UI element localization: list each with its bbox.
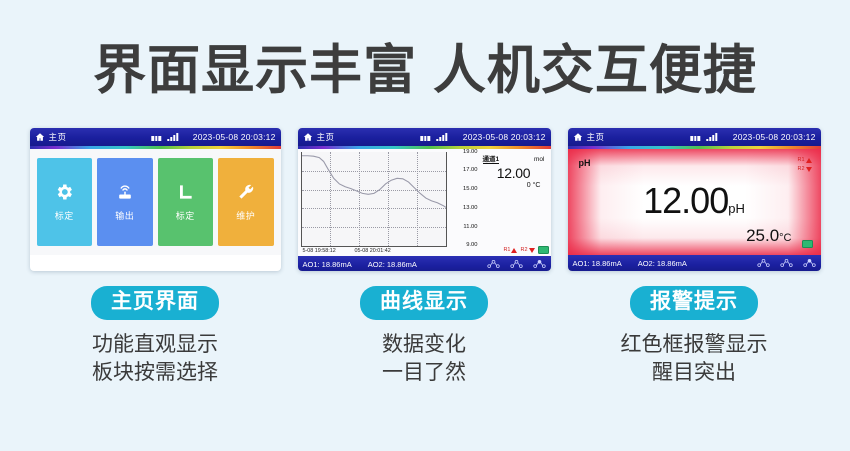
- device-bottombar: AO1: 18.86mA AO2: 18.86mA: [298, 256, 551, 271]
- device-bottombar: AO1: 18.86mA AO2: 18.86mA: [568, 255, 821, 271]
- device-titlebar: 主页 2023-05-08 20:03:12: [298, 128, 551, 146]
- relay-2-indicator: R2: [520, 247, 534, 253]
- node-link-icon-2[interactable]: [780, 258, 793, 268]
- triangle-up-icon: [806, 158, 812, 163]
- triangle-up-icon: [511, 248, 517, 253]
- tile-label: 标定: [55, 209, 74, 222]
- chart-yaxis: 19.00 17.00 15.00 13.00 11.00 9.00: [450, 149, 480, 256]
- node-link-icon-1[interactable]: [757, 258, 770, 268]
- device-mockup-home: 主页 2023-05-08 20:03:12 标定: [30, 128, 281, 271]
- gear-icon: [54, 182, 74, 202]
- cards-row: 主页 2023-05-08 20:03:12 标定: [0, 128, 850, 387]
- caption-alarm-screen: 红色框报警显示 醒目突出: [621, 331, 768, 386]
- device-titlebar: 主页 2023-05-08 20:03:12: [568, 128, 821, 146]
- tile-label: 维护: [236, 209, 255, 222]
- ph-reading: 12.00pH: [573, 180, 816, 222]
- relay-1-label: R1: [797, 157, 804, 163]
- signal-icon: [436, 133, 447, 141]
- home-tile-grid: 标定 输出: [30, 149, 281, 255]
- pill-alarm-screen: 报警提示: [630, 286, 758, 320]
- caption-line-2: 醒目突出: [621, 359, 768, 387]
- alarm-view: pH R1 R2 12.00pH: [568, 149, 821, 255]
- status-icons: [690, 133, 717, 141]
- node-link-icon-3[interactable]: [803, 258, 816, 268]
- titlebar-label: 主页: [587, 131, 605, 143]
- ytick-2: 15.00: [463, 186, 478, 192]
- device-mockup-curve: 主页 2023-05-08 20:03:12: [298, 128, 551, 271]
- temp-unit: °C: [779, 232, 791, 244]
- titlebar-datetime: 2023-05-08 20:03:12: [463, 132, 546, 142]
- temp-value: 25.0: [746, 226, 779, 245]
- relay-indicators: R1 R2: [797, 157, 811, 172]
- channel-name: 通道1: [483, 153, 500, 164]
- ruler-icon: [175, 182, 195, 202]
- ao1-value: AO1: 18.86mA: [303, 260, 352, 269]
- channel-temperature: 0 °C: [483, 182, 545, 189]
- ao1-value: AO1: 18.86mA: [573, 259, 622, 268]
- ao2-value: AO2: 18.86mA: [368, 260, 417, 269]
- caption-home-screen: 功能直观显示 板块按需选择: [92, 331, 218, 386]
- titlebar-datetime: 2023-05-08 20:03:12: [733, 132, 816, 142]
- ytick-3: 13.00: [463, 205, 478, 211]
- tile-calibration-1[interactable]: 标定: [37, 158, 93, 246]
- xtick-1: 05-08 20:01:42: [355, 248, 391, 254]
- bottom-nav-icons: [757, 258, 816, 268]
- caption-line-1: 数据变化: [382, 331, 466, 359]
- temperature-reading: 25.0°C: [746, 226, 791, 246]
- relay-1-label: R1: [503, 247, 510, 253]
- caption-line-1: 功能直观显示: [92, 331, 218, 359]
- measurement-label: pH: [579, 158, 591, 168]
- caption-curve-screen: 数据变化 一目了然: [382, 331, 466, 386]
- status-badge: [538, 246, 549, 254]
- battery-icon: [151, 136, 161, 141]
- relay-1-indicator: R1: [503, 247, 517, 253]
- tile-maintenance[interactable]: 维护: [218, 158, 274, 246]
- relay-indicators: R1 R2: [503, 246, 548, 254]
- signal-icon: [167, 133, 178, 141]
- ytick-0: 19.00: [463, 149, 478, 155]
- chart-area: 5-08 19:58:12 05-08 20:01:42: [298, 149, 450, 256]
- triangle-down-icon: [529, 248, 535, 253]
- pill-curve-screen: 曲线显示: [360, 286, 488, 320]
- tile-label: 输出: [115, 209, 134, 222]
- relay-2-label: R2: [797, 166, 804, 172]
- wrench-icon: [236, 182, 256, 202]
- caption-line-2: 一目了然: [382, 359, 466, 387]
- ph-value: 12.00: [643, 180, 728, 221]
- tile-label: 标定: [176, 209, 195, 222]
- page-title: 界面显示丰富 人机交互便捷: [0, 28, 850, 104]
- titlebar-datetime: 2023-05-08 20:03:12: [193, 132, 276, 142]
- device-mockup-alarm: 主页 2023-05-08 20:03:12 pH R1: [568, 128, 821, 271]
- triangle-down-icon: [806, 167, 812, 172]
- status-badge: [802, 240, 813, 248]
- card-alarm-screen: 主页 2023-05-08 20:03:12 pH R1: [568, 128, 821, 387]
- home-icon: [303, 132, 313, 142]
- signal-icon: [706, 133, 717, 141]
- ytick-5: 9.00: [466, 242, 477, 248]
- channel-value: 12.00: [483, 165, 545, 181]
- node-link-icon-3[interactable]: [533, 259, 546, 269]
- relay-2-label: R2: [520, 247, 527, 253]
- titlebar-label: 主页: [49, 131, 67, 143]
- channel-readout: 通道1 mol 12.00 0 °C R1 R2: [480, 149, 551, 256]
- curve-view: 5-08 19:58:12 05-08 20:01:42 19.00 17.00…: [298, 149, 551, 256]
- bottom-nav-icons: [487, 259, 546, 269]
- ytick-1: 17.00: [463, 167, 478, 173]
- tile-calibration-2[interactable]: 标定: [158, 158, 214, 246]
- trend-chart[interactable]: [301, 152, 447, 247]
- ytick-4: 11.00: [463, 224, 477, 230]
- relay-1-indicator: R1: [797, 157, 811, 163]
- router-icon: [115, 182, 135, 202]
- xtick-0: 5-08 19:58:12: [303, 248, 336, 254]
- node-link-icon-1[interactable]: [487, 259, 500, 269]
- pill-home-screen: 主页界面: [91, 286, 219, 320]
- promo-page: 界面显示丰富 人机交互便捷 主页 2023-05-08 20:03:12: [0, 0, 850, 451]
- ao2-value: AO2: 18.86mA: [638, 259, 687, 268]
- relay-2-indicator: R2: [797, 166, 811, 172]
- titlebar-label: 主页: [317, 131, 335, 143]
- caption-line-2: 板块按需选择: [92, 359, 218, 387]
- home-icon: [573, 132, 583, 142]
- card-curve-screen: 主页 2023-05-08 20:03:12: [298, 128, 551, 387]
- card-home-screen: 主页 2023-05-08 20:03:12 标定: [30, 128, 281, 387]
- battery-icon: [420, 136, 430, 141]
- battery-icon: [690, 136, 700, 141]
- status-icons: [151, 133, 178, 141]
- chart-xaxis: 5-08 19:58:12 05-08 20:01:42: [303, 247, 450, 256]
- caption-line-1: 红色框报警显示: [621, 331, 768, 359]
- channel-unit: mol: [534, 156, 544, 163]
- tile-output[interactable]: 输出: [97, 158, 153, 246]
- node-link-icon-2[interactable]: [510, 259, 523, 269]
- trend-line: [302, 152, 446, 246]
- ph-unit: pH: [728, 201, 745, 216]
- device-titlebar: 主页 2023-05-08 20:03:12: [30, 128, 281, 146]
- status-icons: [420, 133, 447, 141]
- home-icon: [35, 132, 45, 142]
